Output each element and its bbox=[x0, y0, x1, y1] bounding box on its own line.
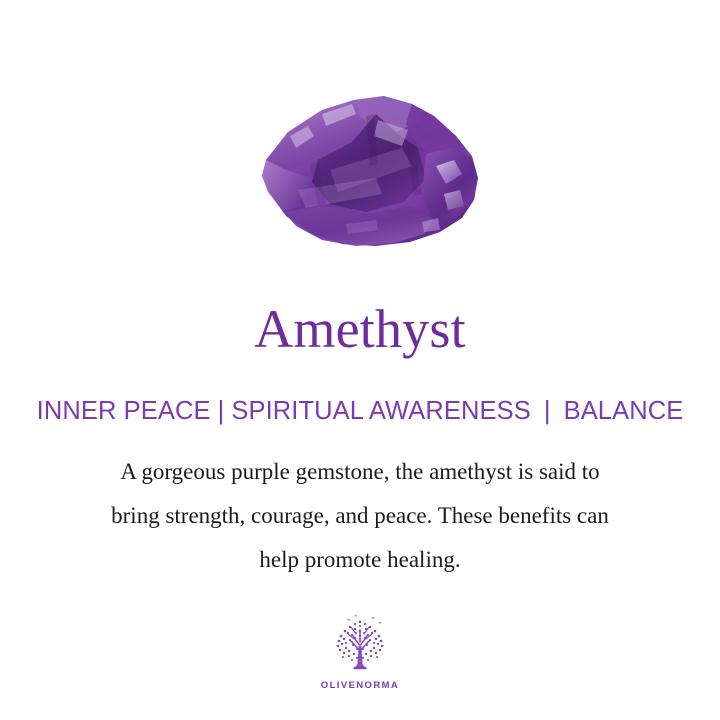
amethyst-crystal-image bbox=[226, 74, 494, 266]
brand-logo: OLIVENORMA bbox=[0, 612, 720, 691]
description-text: A gorgeous purple gemstone, the amethyst… bbox=[40, 450, 680, 582]
keyword-separator-1: | bbox=[211, 396, 232, 426]
description-line-1: A gorgeous purple gemstone, the amethyst… bbox=[40, 450, 680, 494]
description-line-3: help promote healing. bbox=[40, 538, 680, 582]
brand-wordmark: OLIVENORMA bbox=[321, 680, 399, 691]
amethyst-crystal-svg bbox=[226, 74, 494, 266]
keyword-separator-2: | bbox=[531, 396, 564, 426]
amethyst-info-card: Amethyst INNER PEACE|SPIRITUAL AWARENESS… bbox=[0, 0, 720, 720]
hero-image-area bbox=[0, 62, 720, 277]
keyword-balance: BALANCE bbox=[564, 397, 684, 425]
keyword-spiritual-awareness: SPIRITUAL AWARENESS bbox=[231, 397, 530, 425]
description-line-2: bring strength, courage, and peace. Thes… bbox=[40, 494, 680, 538]
page-title: Amethyst bbox=[0, 300, 720, 358]
tree-of-life-icon bbox=[327, 612, 393, 678]
keyword-line: INNER PEACE|SPIRITUAL AWARENESS|BALANCE bbox=[0, 396, 720, 426]
keyword-inner-peace: INNER PEACE bbox=[37, 397, 211, 425]
